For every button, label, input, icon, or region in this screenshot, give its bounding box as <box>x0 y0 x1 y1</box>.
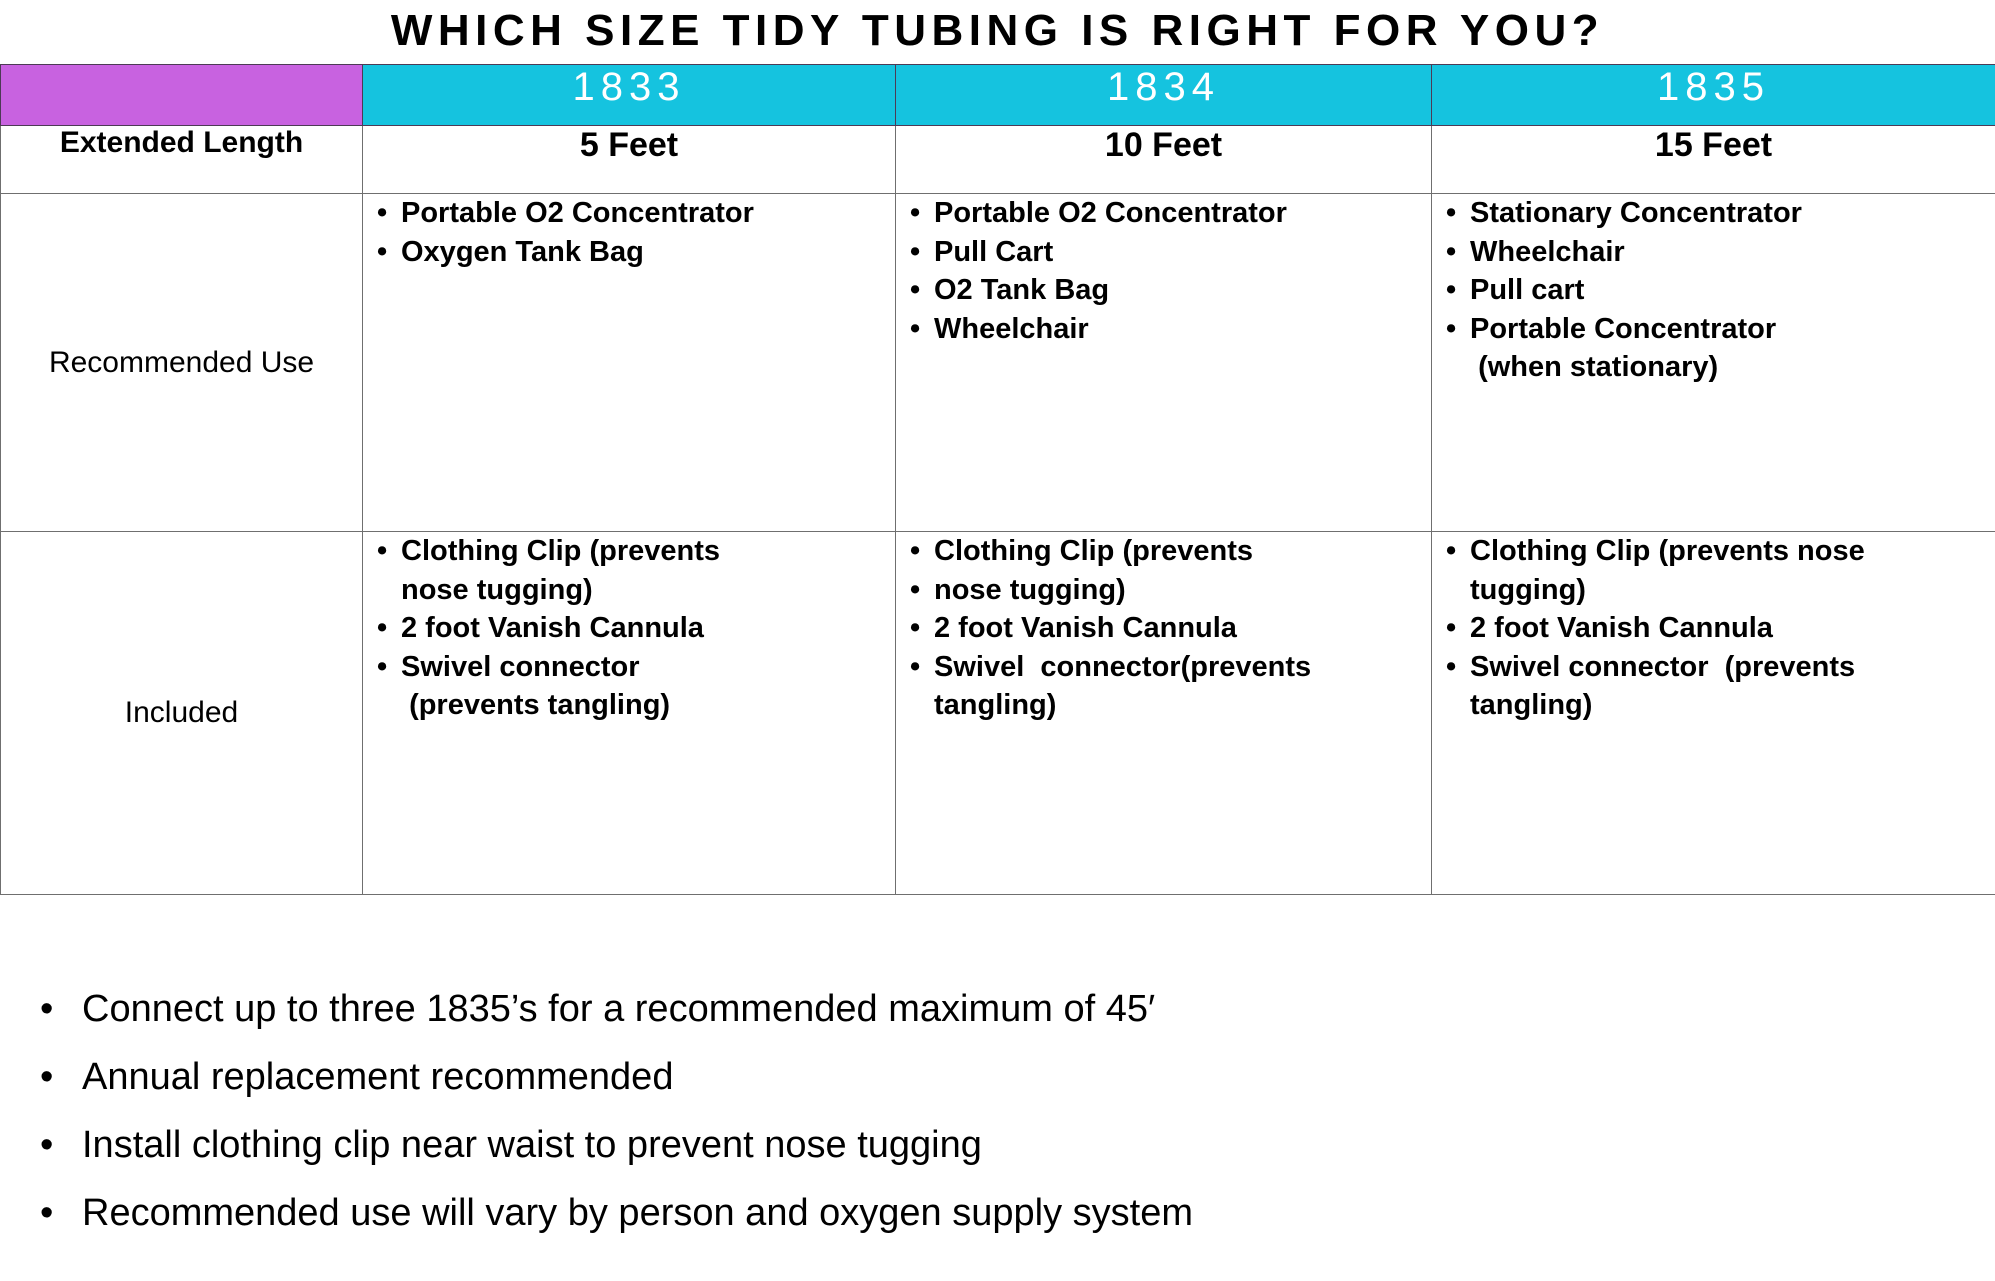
list-item: Wheelchair <box>1432 233 1995 272</box>
sku-header-1833: 1833 <box>363 65 896 126</box>
list-item: Stationary Concentrator <box>1432 194 1995 233</box>
list-item: 2 foot Vanish Cannula <box>1432 609 1995 648</box>
extended-length-1835: 15 Feet <box>1432 126 1995 194</box>
row-label-included: Included <box>1 532 363 895</box>
recommended-use-1834-cell: Portable O2 ConcentratorPull CartO2 Tank… <box>896 194 1432 532</box>
list-item: 2 foot Vanish Cannula <box>896 609 1431 648</box>
list-item: Annual replacement recommended <box>0 1043 1900 1111</box>
list-item: Portable O2 Concentrator <box>363 194 895 233</box>
list-item: Swivel connector (prevents tangling) <box>363 648 895 725</box>
table-header-row: 1833 1834 1835 <box>1 65 1995 126</box>
list-item: O2 Tank Bag <box>896 271 1431 310</box>
page-title: WHICH SIZE TIDY TUBING IS RIGHT FOR YOU? <box>0 0 1995 62</box>
recommended-use-1834-list: Portable O2 ConcentratorPull CartO2 Tank… <box>896 194 1431 348</box>
included-1835-cell: Clothing Clip (prevents nose tugging)2 f… <box>1432 532 1995 895</box>
list-item: Swivel connector(prevents tangling) <box>896 648 1431 725</box>
included-1833-list: Clothing Clip (prevents nose tugging)2 f… <box>363 532 895 725</box>
included-1834-cell: Clothing Clip (preventsnose tugging)2 fo… <box>896 532 1432 895</box>
extended-length-1833: 5 Feet <box>363 126 896 194</box>
row-label-extended-length: Extended Length <box>1 126 363 194</box>
list-item: Clothing Clip (prevents nose tugging) <box>363 532 895 609</box>
list-item: Clothing Clip (prevents <box>896 532 1431 571</box>
sku-header-1835: 1835 <box>1432 65 1995 126</box>
extended-length-1834: 10 Feet <box>896 126 1432 194</box>
list-item: nose tugging) <box>896 571 1431 610</box>
list-item: Recommended use will vary by person and … <box>0 1179 1900 1247</box>
row-label-recommended-use: Recommended Use <box>1 194 363 532</box>
recommended-use-1835-cell: Stationary ConcentratorWheelchairPull ca… <box>1432 194 1995 532</box>
list-item: Oxygen Tank Bag <box>363 233 895 272</box>
list-item: Portable Concentrator (when stationary) <box>1432 310 1995 387</box>
tidy-tubing-size-comparison-page: WHICH SIZE TIDY TUBING IS RIGHT FOR YOU?… <box>0 0 1995 1281</box>
included-1833-cell: Clothing Clip (prevents nose tugging)2 f… <box>363 532 896 895</box>
recommended-use-row: Recommended Use Portable O2 Concentrator… <box>1 194 1995 532</box>
footnote-list: Connect up to three 1835’s for a recomme… <box>0 975 1900 1247</box>
recommended-use-1833-list: Portable O2 ConcentratorOxygen Tank Bag <box>363 194 895 271</box>
list-item: Clothing Clip (prevents nose tugging) <box>1432 532 1995 609</box>
table-corner-cell <box>1 65 363 126</box>
list-item: Connect up to three 1835’s for a recomme… <box>0 975 1900 1043</box>
included-1835-list: Clothing Clip (prevents nose tugging)2 f… <box>1432 532 1995 725</box>
recommended-use-1833-cell: Portable O2 ConcentratorOxygen Tank Bag <box>363 194 896 532</box>
included-row: Included Clothing Clip (prevents nose tu… <box>1 532 1995 895</box>
list-item: 2 foot Vanish Cannula <box>363 609 895 648</box>
size-comparison-table: 1833 1834 1835 Extended Length 5 Feet 10… <box>0 64 1995 895</box>
list-item: Pull Cart <box>896 233 1431 272</box>
included-1834-list: Clothing Clip (preventsnose tugging)2 fo… <box>896 532 1431 725</box>
extended-length-row: Extended Length 5 Feet 10 Feet 15 Feet <box>1 126 1995 194</box>
list-item: Pull cart <box>1432 271 1995 310</box>
sku-header-1834: 1834 <box>896 65 1432 126</box>
recommended-use-1835-list: Stationary ConcentratorWheelchairPull ca… <box>1432 194 1995 387</box>
list-item: Swivel connector (prevents tangling) <box>1432 648 1995 725</box>
list-item: Wheelchair <box>896 310 1431 349</box>
list-item: Portable O2 Concentrator <box>896 194 1431 233</box>
list-item: Install clothing clip near waist to prev… <box>0 1111 1900 1179</box>
